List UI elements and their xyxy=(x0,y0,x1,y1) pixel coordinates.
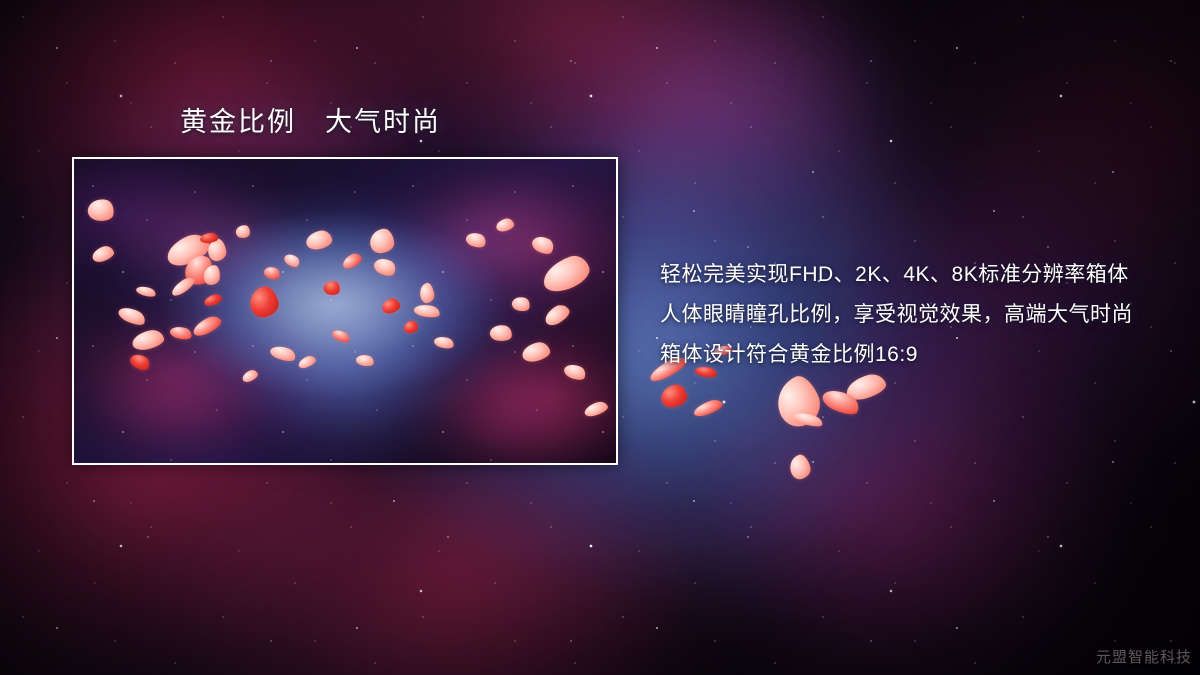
slide-canvas: 黄金比例 大气时尚 xyxy=(0,0,1200,675)
page-title: 黄金比例 大气时尚 xyxy=(180,100,441,139)
body-copy: 轻松完美实现FHD、2K、4K、8K标准分辨率箱体 人体眼睛瞳孔比例，享受视觉效… xyxy=(660,255,1160,375)
body-line-3: 箱体设计符合黄金比例16:9 xyxy=(660,335,1160,375)
preview-starfield xyxy=(74,159,616,463)
galaxy-preview-image xyxy=(74,159,616,463)
watermark: 元盟智能科技 xyxy=(1096,646,1192,667)
body-line-1: 轻松完美实现FHD、2K、4K、8K标准分辨率箱体 xyxy=(660,255,1160,295)
body-line-2: 人体眼睛瞳孔比例，享受视觉效果，高端大气时尚 xyxy=(660,295,1160,335)
galaxy-preview-frame xyxy=(72,157,618,465)
